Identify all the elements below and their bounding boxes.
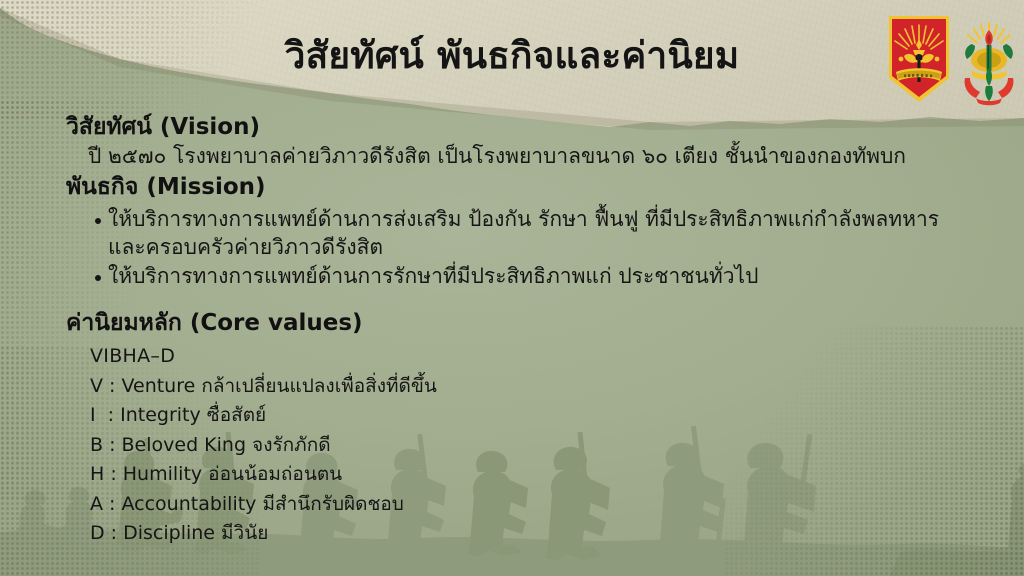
core-value-a: A : Accountability มีสำนึกรับผิดชอบ [90,490,966,519]
core-values-acronym: VIBHA–D [90,342,966,371]
vision-heading: วิสัยทัศน์ (Vision) [66,113,966,142]
core-value-v: V : Venture กล้าเปลี่ยนแปลงเพื่อสิ่งที่ด… [90,372,966,401]
mission-list: ให้บริการทางการแพทย์ด้านการส่งเสริม ป้อง… [66,206,966,291]
slide-content: วิสัยทัศน์ (Vision) ปี ๒๕๗๐ โรงพยาบาลค่า… [66,113,966,548]
core-values-heading: ค่านิยมหลัก (Core values) [66,309,966,338]
vision-text: ปี ๒๕๗๐ โรงพยาบาลค่ายวิภาวดีรังสิต เป็นโ… [88,143,966,170]
mission-heading: พันธกิจ (Mission) [66,173,966,202]
mission-item-line-2: และครอบครัวค่ายวิภาวดีรังสิต [108,234,966,262]
core-value-h: H : Humility อ่อนน้อมถ่อนตน [90,460,966,489]
list-item: ให้บริการทางการแพทย์ด้านการส่งเสริม ป้อง… [66,206,966,262]
core-value-i: I : Integrity ซื่อสัตย์ [90,401,966,430]
list-item: ให้บริการทางการแพทย์ด้านการรักษาที่มีประ… [66,263,966,291]
core-value-d: D : Discipline มีวินัย [90,519,966,548]
mission-item-line-1: ให้บริการทางการแพทย์ด้านการรักษาที่มีประ… [108,263,966,291]
mission-item-line-1: ให้บริการทางการแพทย์ด้านการส่งเสริม ป้อง… [108,206,966,234]
page-title: วิสัยทัศน์ พันธกิจและค่านิยม [0,26,1024,85]
core-values-list: VIBHA–D V : Venture กล้าเปลี่ยนแปลงเพื่อ… [90,342,966,548]
core-value-b: B : Beloved King จงรักภักดี [90,431,966,460]
presentation-slide: วิสัยทัศน์ พันธกิจและค่านิยม วิสัยทัศน์ … [0,0,1024,576]
